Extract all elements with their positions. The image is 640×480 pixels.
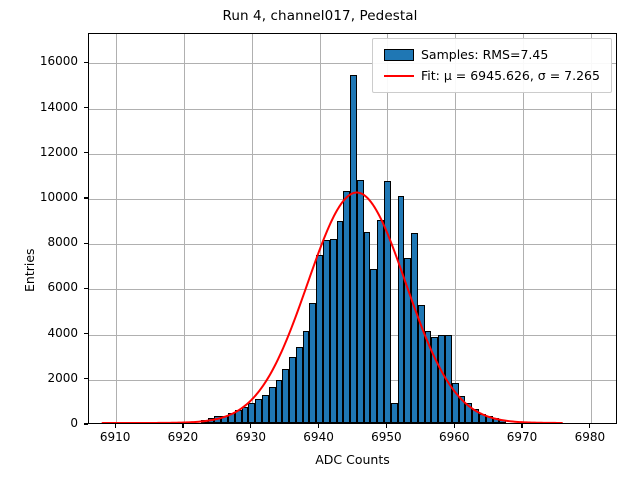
x-axis-label: ADC Counts (88, 452, 617, 467)
legend-item-samples: Samples: RMS=7.45 (380, 44, 604, 65)
x-tick-mark (589, 424, 590, 428)
chart-title: Run 4, channel017, Pedestal (0, 8, 640, 24)
y-tick-mark (84, 152, 88, 153)
y-tick-mark (84, 333, 88, 334)
y-tick-label: 10000 (0, 190, 78, 204)
x-tick-mark (250, 424, 251, 428)
y-tick-label: 2000 (0, 371, 78, 385)
y-tick-label: 12000 (0, 145, 78, 159)
y-axis-label: Entries (22, 248, 37, 292)
x-tick-label: 6960 (419, 430, 489, 444)
y-tick-label: 4000 (0, 326, 78, 340)
x-tick-label: 6970 (487, 430, 557, 444)
x-tick-label: 6980 (555, 430, 625, 444)
x-tick-label: 6920 (148, 430, 218, 444)
y-tick-mark (84, 423, 88, 424)
y-tick-label: 0 (0, 416, 78, 430)
y-tick-label: 6000 (0, 280, 78, 294)
y-tick-mark (84, 243, 88, 244)
legend-patch-icon (380, 49, 418, 61)
y-tick-label: 16000 (0, 54, 78, 68)
y-tick-mark (84, 107, 88, 108)
x-tick-label: 6930 (216, 430, 286, 444)
x-tick-mark (521, 424, 522, 428)
x-tick-mark (454, 424, 455, 428)
x-tick-mark (115, 424, 116, 428)
y-tick-label: 14000 (0, 100, 78, 114)
y-tick-label: 8000 (0, 235, 78, 249)
x-tick-mark (386, 424, 387, 428)
x-tick-label: 6910 (80, 430, 150, 444)
x-tick-mark (182, 424, 183, 428)
legend-item-fit: Fit: μ = 6945.626, σ = 7.265 (380, 65, 604, 86)
chart-figure: Run 4, channel017, Pedestal 020004000600… (0, 0, 640, 480)
y-tick-mark (84, 378, 88, 379)
legend-label-fit: Fit: μ = 6945.626, σ = 7.265 (418, 68, 600, 83)
legend-label-samples: Samples: RMS=7.45 (418, 47, 548, 62)
y-tick-mark (84, 62, 88, 63)
y-tick-mark (84, 197, 88, 198)
y-tick-mark (84, 288, 88, 289)
x-tick-label: 6940 (284, 430, 354, 444)
x-tick-mark (318, 424, 319, 428)
chart-legend: Samples: RMS=7.45 Fit: μ = 6945.626, σ =… (372, 38, 612, 93)
x-tick-label: 6950 (351, 430, 421, 444)
legend-line-icon (380, 75, 418, 77)
